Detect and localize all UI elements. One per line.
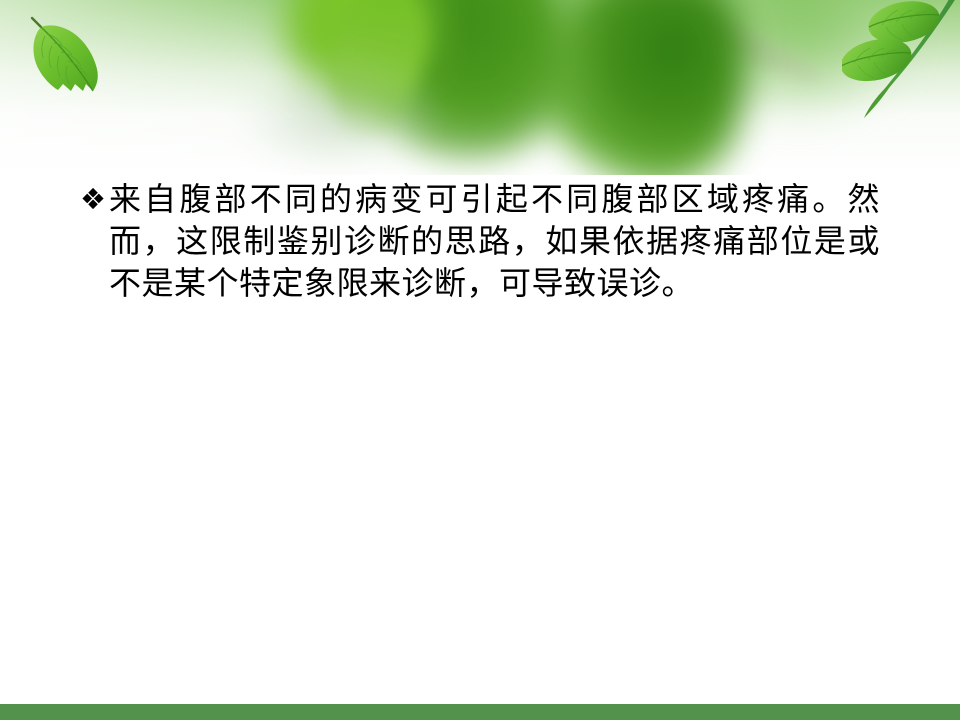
green-footer-bar [0,704,960,720]
presentation-slide: ❖ 来自腹部不同的病变可引起不同腹部区域疼痛。然而，这限制鉴别诊断的思路，如果依… [0,0,960,720]
serrated-leaf-icon [14,8,119,108]
bullet-paragraph-text: 来自腹部不同的病变可引起不同腹部区域疼痛。然而，这限制鉴别诊断的思路，如果依据疼… [109,178,880,304]
diamond-minus-white-x-bullet-icon: ❖ [80,178,106,220]
green-leaf-banner [0,0,960,175]
bullet-item: ❖ 来自腹部不同的病变可引起不同腹部区域疼痛。然而，这限制鉴别诊断的思路，如果依… [80,178,880,304]
slide-body: ❖ 来自腹部不同的病变可引起不同腹部区域疼痛。然而，这限制鉴别诊断的思路，如果依… [80,178,880,304]
leaf-branch-icon [842,0,960,126]
